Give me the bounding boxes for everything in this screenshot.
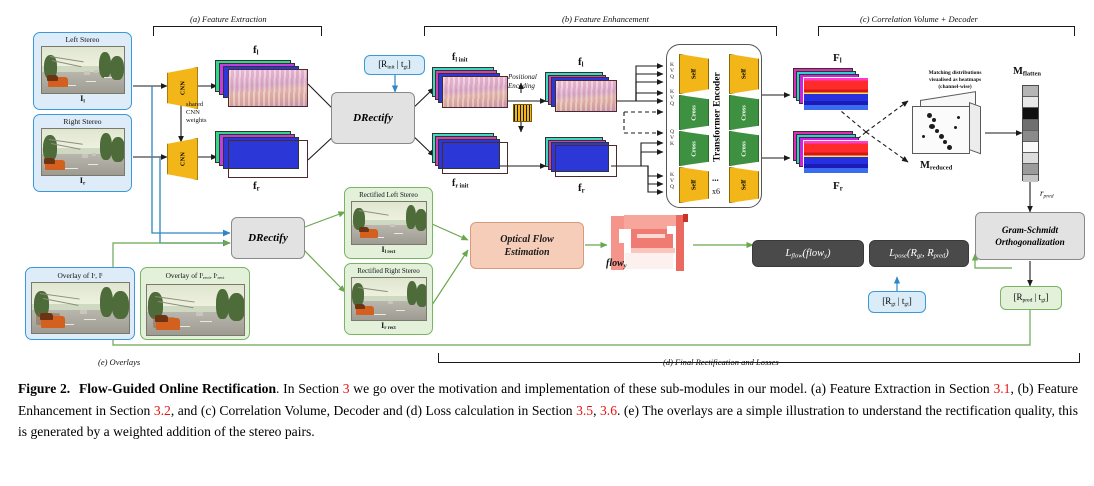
label-fl-init: fl init xyxy=(452,52,468,64)
transformer-cross-block-3: Cross xyxy=(729,95,759,130)
label-Fl: Fl xyxy=(833,52,842,65)
label-r-pred: rpred xyxy=(1040,188,1054,199)
caption-ref-31: 3.1 xyxy=(993,381,1010,396)
m-reduced-cube xyxy=(912,100,984,160)
right-stereo-caption: Right Stereo xyxy=(34,115,131,127)
transformer-dots: ... xyxy=(712,173,719,183)
caption-p1: . In Section xyxy=(276,381,343,396)
label-M-flatten: Mflatten xyxy=(1013,66,1041,78)
section-label-a: (a) Feature Extraction xyxy=(190,14,267,24)
pose-gt-label: [Rgt | tgt] xyxy=(882,296,912,307)
label-M-reduced: Mreduced xyxy=(920,160,952,172)
rectified-left-image xyxy=(351,201,427,245)
section-label-b: (b) Feature Enhancement xyxy=(562,14,649,24)
transformer-self-block-3: Self xyxy=(729,54,759,94)
figure-caption: Figure 2. Flow-Guided Online Rectificati… xyxy=(18,378,1078,443)
caption-ref-36: 3.6 xyxy=(600,403,617,418)
rectified-left-box: Rectified Left Stereo Il rect xyxy=(344,187,433,259)
pose-init-box: [Rinit | tgt] xyxy=(364,55,425,75)
figure-container: (a) Feature Extraction (b) Feature Enhan… xyxy=(0,0,1094,486)
right-stereo-box: Right Stereo Ir xyxy=(33,114,132,192)
pose-loss-label: Lpose(Rgt, Rpred) xyxy=(889,248,949,260)
rectified-right-box: Rectified Right Stereo Ir rect xyxy=(344,263,433,335)
gram-schmidt-box: Gram-Schmidt Orthogonalization xyxy=(975,212,1085,260)
caption-ref-3: 3 xyxy=(343,381,350,396)
rectified-right-symbol: Ir rect xyxy=(345,321,432,334)
gram-schmidt-line1: Gram-Schmidt xyxy=(1002,224,1058,236)
overlay-rect-box: Overlay of Ilrect, Irrect xyxy=(140,267,250,340)
feature-stack-fr-init xyxy=(432,133,508,181)
feature-stack-fr-enh xyxy=(545,137,617,185)
feature-stack-fl xyxy=(215,60,311,112)
optical-flow-line1: Optical Flow xyxy=(500,233,554,246)
transformer-cross-block-4: Cross xyxy=(729,131,759,166)
transformer-cross-block-2: Cross xyxy=(679,131,709,166)
pose-pred-box: [Rpred | tgt] xyxy=(1000,286,1062,310)
label-fr-enhanced: fr xyxy=(578,182,585,195)
label-fl-enhanced: fl xyxy=(578,56,584,69)
cnn-right: CNN xyxy=(167,138,198,180)
feature-stack-fl-init xyxy=(432,67,508,115)
rectified-left-caption: Rectified Left Stereo xyxy=(345,188,432,200)
overlay-raw-caption: Overlay of Ir, Il xyxy=(26,268,134,281)
gram-schmidt-line2: Orthogonalization xyxy=(995,236,1064,248)
section-label-d: (d) Final Rectification and Losses xyxy=(663,357,779,367)
kvq-group-1: KVQ xyxy=(670,62,674,80)
kvq-group-4: KVQ xyxy=(670,172,674,190)
label-fr-init: fr init xyxy=(452,178,468,190)
drectify-bottom-box: DRectify xyxy=(231,217,305,259)
overlay-rect-image xyxy=(146,284,245,336)
section-label-c: (c) Correlation Volume + Decoder xyxy=(860,14,978,24)
rectified-right-caption: Rectified Right Stereo xyxy=(345,264,432,276)
rectified-right-image xyxy=(351,277,427,321)
transformer-self-block-2: Self xyxy=(679,167,709,203)
transformer-self-block-4: Self xyxy=(729,167,759,203)
optical-flow-line2: Estimation xyxy=(504,246,549,259)
bracket-correlation xyxy=(818,26,1075,36)
shared-cnn-weights-label: shared CNN weights xyxy=(186,101,207,125)
caption-p4: , and (c) Correlation Volume, Decoder an… xyxy=(171,403,576,418)
left-stereo-box: Left Stereo Il xyxy=(33,32,132,110)
correlation-stack-Fl xyxy=(793,68,871,118)
right-stereo-symbol: Ir xyxy=(34,176,131,188)
m-flatten-bar xyxy=(1022,85,1039,181)
label-Fr: Fr xyxy=(833,180,843,193)
caption-p5: , xyxy=(593,403,600,418)
overlay-raw-box: Overlay of Ir, Il xyxy=(25,267,135,340)
pose-pred-label: [Rpred | tgt] xyxy=(1013,292,1048,303)
caption-ref-35: 3.5 xyxy=(576,403,593,418)
positional-encoding-icon xyxy=(513,104,532,122)
kvq-group-2: KVQ xyxy=(670,89,674,107)
pose-gt-box: [Rgt | tgt] xyxy=(868,291,926,313)
transformer-repeat: x6 xyxy=(712,187,720,196)
overlay-raw-image xyxy=(31,282,130,334)
caption-p2: we go over the motivation and implementa… xyxy=(350,381,994,396)
section-label-e: (e) Overlays xyxy=(98,357,140,367)
flow-loss-label: Lflow(flowy) xyxy=(785,248,830,260)
flow-loss-box: Lflow(flowy) xyxy=(752,240,864,267)
overlay-rect-caption: Overlay of Ilrect, Irrect xyxy=(141,268,249,283)
left-stereo-caption: Left Stereo xyxy=(34,33,131,45)
label-fr: fr xyxy=(253,180,260,193)
right-stereo-image xyxy=(41,128,125,176)
bracket-feature-enhancement xyxy=(424,26,777,36)
figure-number: Figure 2. xyxy=(18,381,70,396)
cnn-right-label: CNN xyxy=(179,152,186,166)
transformer-encoder-box: Self Cross Cross Self Transformer Encode… xyxy=(666,44,762,208)
transformer-encoder-title: Transformer Encoder xyxy=(712,72,723,161)
positional-encoding-label: Positional Encoding xyxy=(508,73,537,90)
figure-title: Flow-Guided Online Rectification xyxy=(79,381,276,396)
bracket-feature-extraction xyxy=(153,26,322,36)
pose-loss-box: Lpose(Rgt, Rpred) xyxy=(869,240,969,267)
label-fl: fl xyxy=(253,44,259,57)
feature-stack-fl-enh xyxy=(545,72,617,120)
cnn-left-label: CNN xyxy=(179,81,186,95)
drectify-bottom-label: DRectify xyxy=(248,232,288,244)
kvq-group-3: QVK xyxy=(670,129,674,147)
feature-stack-fr xyxy=(215,131,311,183)
heatmap-note: Matching distributions visualised as hea… xyxy=(900,70,1010,91)
optical-flow-box: Optical Flow Estimation xyxy=(470,222,584,269)
pose-init-label: [Rinit | tgt] xyxy=(378,59,411,70)
rectified-left-symbol: Il rect xyxy=(345,245,432,258)
transformer-self-block-1: Self xyxy=(679,54,709,94)
left-stereo-symbol: Il xyxy=(34,94,131,106)
transformer-cross-block-1: Cross xyxy=(679,95,709,130)
left-stereo-image xyxy=(41,46,125,94)
drectify-top-label: DRectify xyxy=(353,112,393,124)
caption-ref-32: 3.2 xyxy=(154,403,171,418)
correlation-stack-Fr xyxy=(793,131,871,181)
label-flow-y: flowy xyxy=(606,258,627,270)
drectify-top-box: DRectify xyxy=(331,92,415,144)
